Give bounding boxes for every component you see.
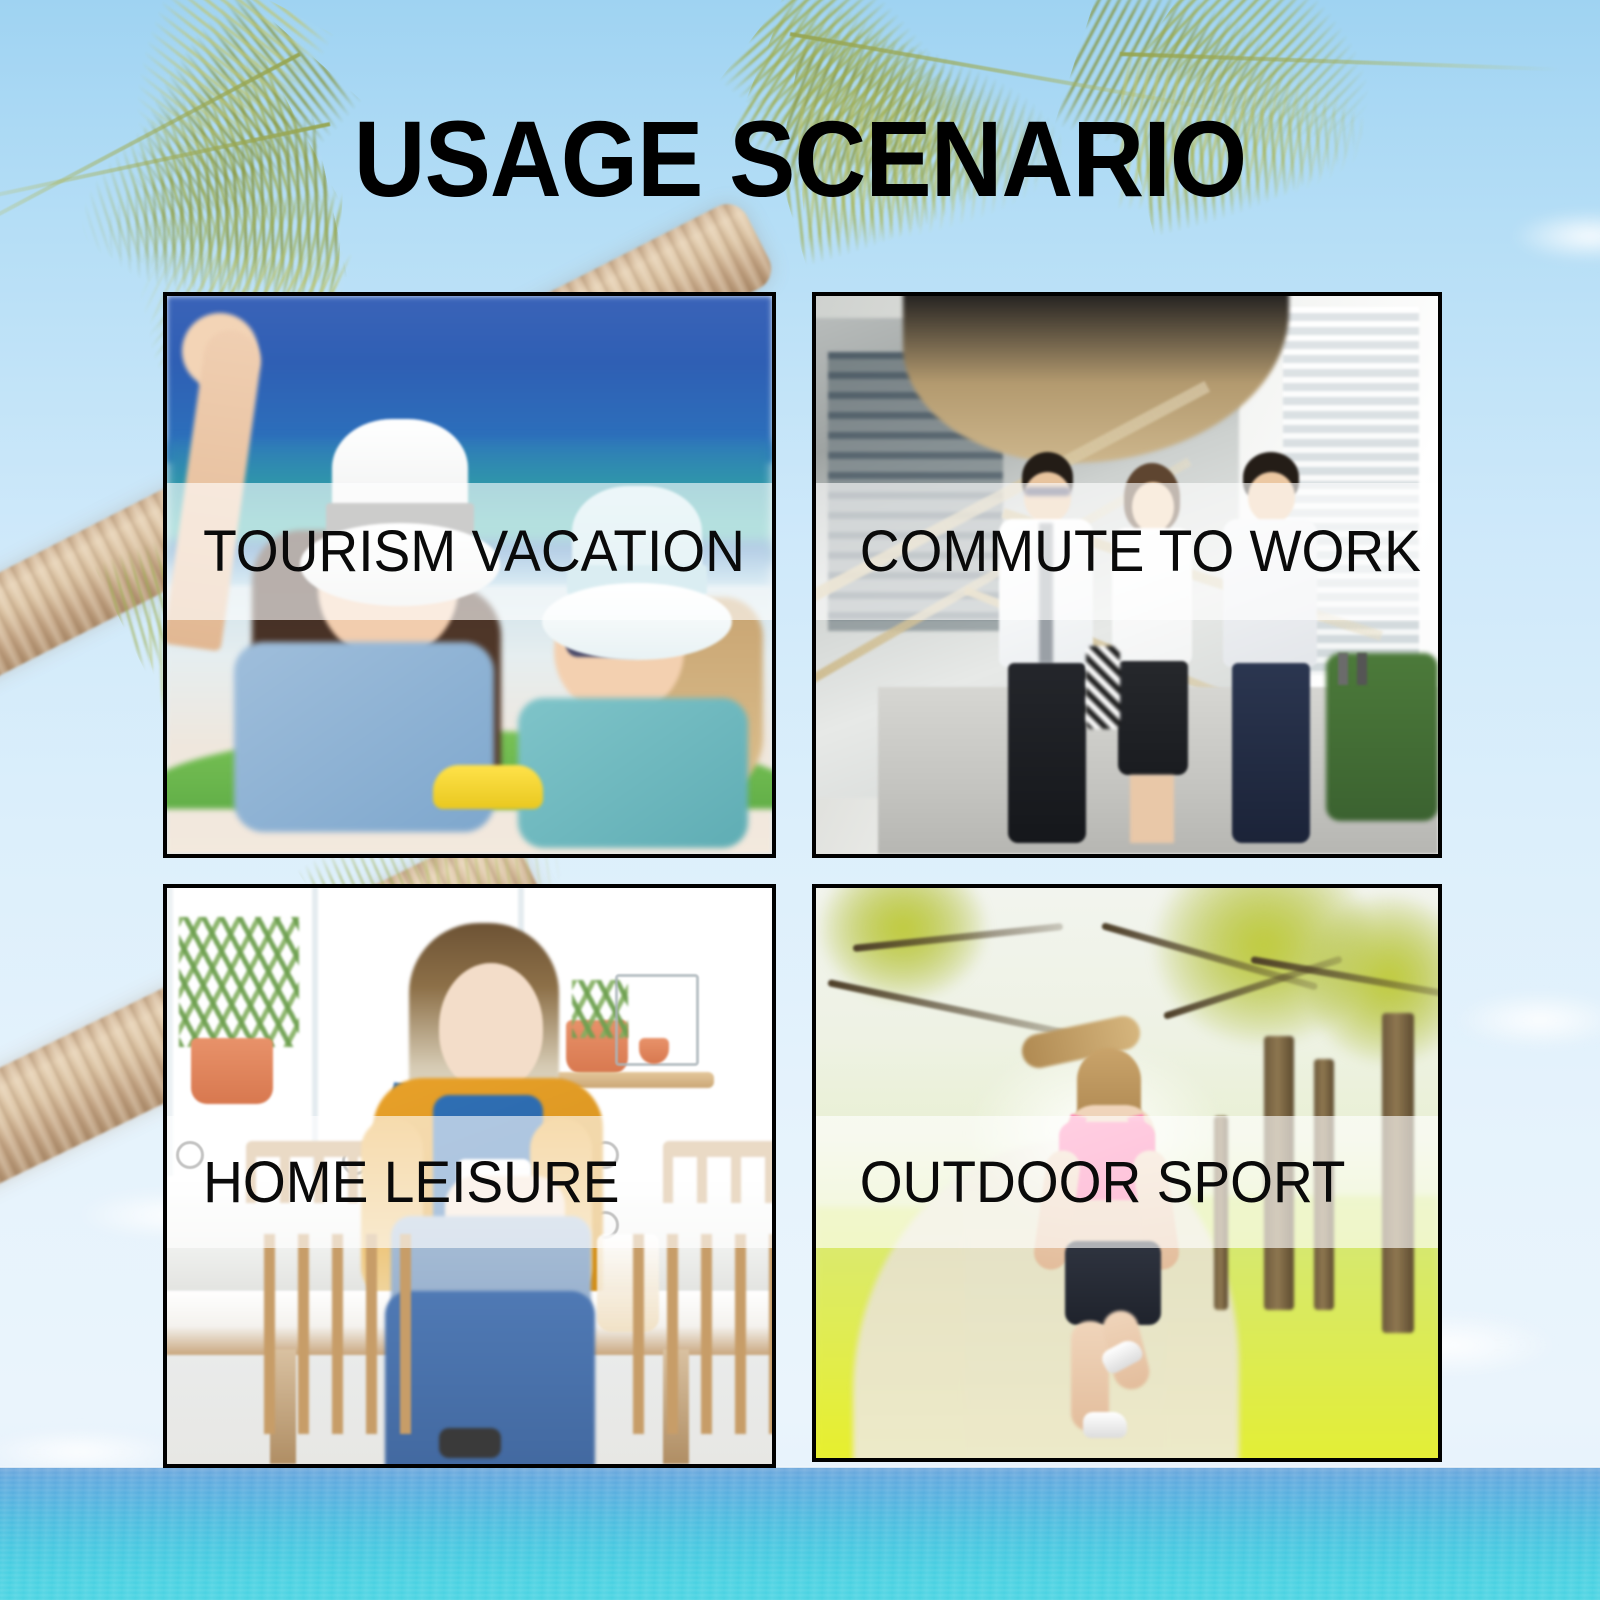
scenario-label-outdoor-sport: OUTDOOR SPORT [816, 1149, 1345, 1216]
label-band-home-leisure: HOME LEISURE [167, 1116, 772, 1248]
label-band-tourism-vacation: TOURISM VACATION [167, 483, 772, 620]
scenario-grid: TOURISM VACATION [163, 292, 1442, 1468]
usage-scenario-poster: USAGE SCENARIO [0, 0, 1600, 1600]
scenario-label-tourism-vacation: TOURISM VACATION [167, 518, 745, 585]
label-band-commute-to-work: COMMUTE TO WORK [816, 483, 1438, 620]
scenario-card-commute-to-work[interactable]: COMMUTE TO WORK [812, 292, 1442, 858]
label-band-outdoor-sport: OUTDOOR SPORT [816, 1116, 1438, 1248]
chair-icon [264, 1234, 414, 1434]
scenario-card-home-leisure[interactable]: HOME LEISURE [163, 884, 776, 1468]
page-title: USAGE SCENARIO [64, 104, 1536, 214]
scenario-card-outdoor-sport[interactable]: OUTDOOR SPORT [812, 884, 1442, 1462]
ocean-background [0, 1468, 1600, 1600]
scenario-label-home-leisure: HOME LEISURE [167, 1149, 620, 1216]
scenario-label-commute-to-work: COMMUTE TO WORK [816, 518, 1421, 585]
scenario-card-tourism-vacation[interactable]: TOURISM VACATION [163, 292, 776, 858]
houseplant-icon [179, 917, 299, 1047]
chair-icon [633, 1234, 772, 1434]
